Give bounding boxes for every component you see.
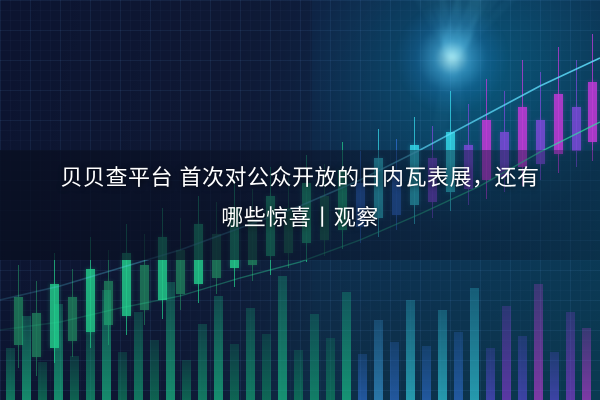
title-line-2: 哪些惊喜丨观察 xyxy=(18,198,582,238)
thumbnail-image: 贝贝查平台 首次对公众开放的日内瓦表展，还有 哪些惊喜丨观察 xyxy=(0,0,600,400)
title-block: 贝贝查平台 首次对公众开放的日内瓦表展，还有 哪些惊喜丨观察 xyxy=(0,158,600,238)
title-line-1: 贝贝查平台 首次对公众开放的日内瓦表展，还有 xyxy=(18,158,582,198)
